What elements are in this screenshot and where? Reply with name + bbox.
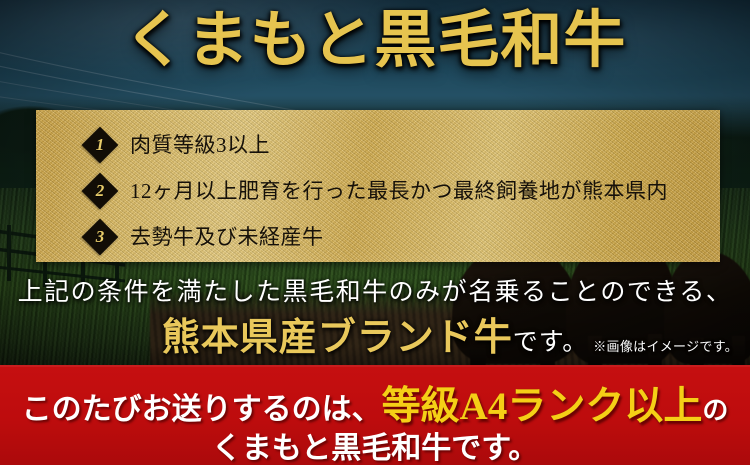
diamond-number-badge: 2 [84, 175, 116, 207]
diamond-number-badge: 1 [84, 129, 116, 161]
diamond-number-badge: 3 [84, 221, 116, 253]
promotional-banner: くまもと黒毛和牛 1 肉質等級3以上 2 12ヶ月以上肥育を行った最長かつ最終飼… [0, 0, 750, 465]
condition-text: 肉質等級3以上 [130, 135, 270, 156]
footer-prefix-text: このたびお送りするのは、 [22, 393, 382, 426]
list-item: 1 肉質等級3以上 [36, 122, 720, 168]
condition-number: 2 [84, 175, 116, 207]
page-title: くまもと黒毛和牛 [0, 10, 750, 72]
brand-name-text: 熊本県産ブランド牛 [162, 317, 513, 359]
list-item: 3 去勢牛及び未経産牛 [36, 214, 720, 260]
condition-number: 3 [84, 221, 116, 253]
condition-text: 去勢牛及び未経産牛 [130, 227, 324, 248]
footer-suffix-text: の [702, 396, 728, 425]
description-line-1: 上記の条件を満たした黒毛和牛のみが名乗ることのできる、 [0, 272, 750, 308]
conditions-panel: 1 肉質等級3以上 2 12ヶ月以上肥育を行った最長かつ最終飼養地が熊本県内 3… [36, 110, 720, 262]
conditions-list: 1 肉質等級3以上 2 12ヶ月以上肥育を行った最長かつ最終飼養地が熊本県内 3… [36, 110, 720, 262]
footer-banner: このたびお送りするのは、等級A4ランク以上の くまもと黒毛和牛です。 [0, 365, 750, 465]
condition-text: 12ヶ月以上肥育を行った最長かつ最終飼養地が熊本県内 [130, 181, 668, 202]
condition-number: 1 [84, 129, 116, 161]
image-disclaimer-note: ※画像はイメージです。 [593, 336, 738, 355]
list-item: 2 12ヶ月以上肥育を行った最長かつ最終飼養地が熊本県内 [36, 168, 720, 214]
footer-highlight-text: 等級A4ランク以上 [382, 385, 703, 428]
footer-line-2: くまもと黒毛和牛です。 [0, 423, 750, 465]
brand-suffix-text: です。 [513, 329, 589, 356]
